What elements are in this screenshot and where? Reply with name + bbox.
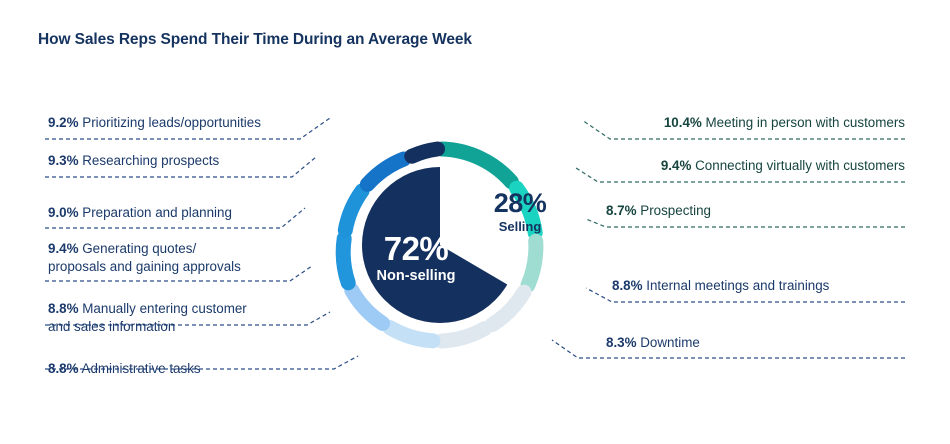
- label-pct: 9.2%: [48, 115, 79, 130]
- center-selling: 28% Selling: [470, 190, 570, 235]
- label-pct: 8.8%: [612, 278, 643, 293]
- label-line-2: and sales information: [48, 318, 247, 336]
- label-internal-meetings[interactable]: 8.8% Internal meetings and trainings: [612, 277, 829, 295]
- label-researching-prospects[interactable]: 9.3% Researching prospects: [48, 152, 219, 170]
- label-pct: 9.3%: [48, 153, 79, 168]
- label-preparation-planning[interactable]: 9.0% Preparation and planning: [48, 204, 232, 222]
- segment-prospecting[interactable]: [528, 241, 536, 285]
- label-text: Manually entering customer: [82, 301, 247, 316]
- label-pct: 8.3%: [606, 335, 637, 350]
- label-text: Downtime: [640, 335, 700, 350]
- donut-chart: 9.2% Prioritizing leads/opportunities 9.…: [0, 0, 950, 444]
- label-meeting-in-person[interactable]: 10.4% Meeting in person with customers: [664, 114, 905, 132]
- segment-manual-data-entry[interactable]: [352, 290, 383, 323]
- label-downtime[interactable]: 8.3% Downtime: [606, 334, 700, 352]
- center-nonselling: 72% Non-selling: [352, 232, 480, 286]
- label-pct: 9.4%: [48, 241, 79, 256]
- leader-lines-right: [552, 120, 905, 358]
- label-pct: 8.8%: [48, 301, 79, 316]
- segment-prioritizing-leads[interactable]: [412, 149, 438, 156]
- label-pct: 10.4%: [664, 115, 702, 130]
- label-pct: 8.7%: [606, 203, 637, 218]
- center-nonselling-value: 72%: [352, 232, 480, 265]
- label-pct: 8.8%: [48, 361, 79, 376]
- label-prospecting[interactable]: 8.7% Prospecting: [606, 202, 711, 220]
- label-text: Generating quotes/: [82, 241, 196, 256]
- label-text: Meeting in person with customers: [706, 115, 905, 130]
- label-generating-quotes[interactable]: 9.4% Generating quotes/ proposals and ga…: [48, 240, 241, 275]
- label-pct: 9.0%: [48, 205, 79, 220]
- label-prioritizing-leads[interactable]: 9.2% Prioritizing leads/opportunities: [48, 114, 261, 132]
- label-text: Researching prospects: [82, 153, 219, 168]
- label-text: Preparation and planning: [82, 205, 232, 220]
- label-text: Internal meetings and trainings: [646, 278, 829, 293]
- segment-administrative-tasks[interactable]: [390, 328, 433, 341]
- label-text: Prioritizing leads/opportunities: [82, 115, 261, 130]
- center-selling-label: Selling: [470, 218, 570, 235]
- label-pct: 9.4%: [661, 158, 692, 173]
- label-text: Prospecting: [640, 203, 711, 218]
- label-text: Connecting virtually with customers: [695, 158, 905, 173]
- segment-preparation-planning[interactable]: [345, 191, 362, 230]
- label-text: Administrative tasks: [82, 361, 201, 376]
- segment-generating-quotes[interactable]: [343, 239, 348, 283]
- label-manual-data-entry[interactable]: 8.8% Manually entering customer and sale…: [48, 300, 247, 335]
- label-line-1: 9.4% Generating quotes/: [48, 240, 241, 258]
- center-nonselling-label: Non-selling: [352, 267, 480, 286]
- label-line-1: 8.8% Manually entering customer: [48, 300, 247, 318]
- center-selling-value: 28%: [470, 190, 570, 217]
- label-administrative-tasks[interactable]: 8.8% Administrative tasks: [48, 360, 201, 378]
- label-connecting-virtually[interactable]: 9.4% Connecting virtually with customers: [661, 157, 905, 175]
- segment-downtime[interactable]: [442, 329, 485, 342]
- label-line-2: proposals and gaining approvals: [48, 258, 241, 276]
